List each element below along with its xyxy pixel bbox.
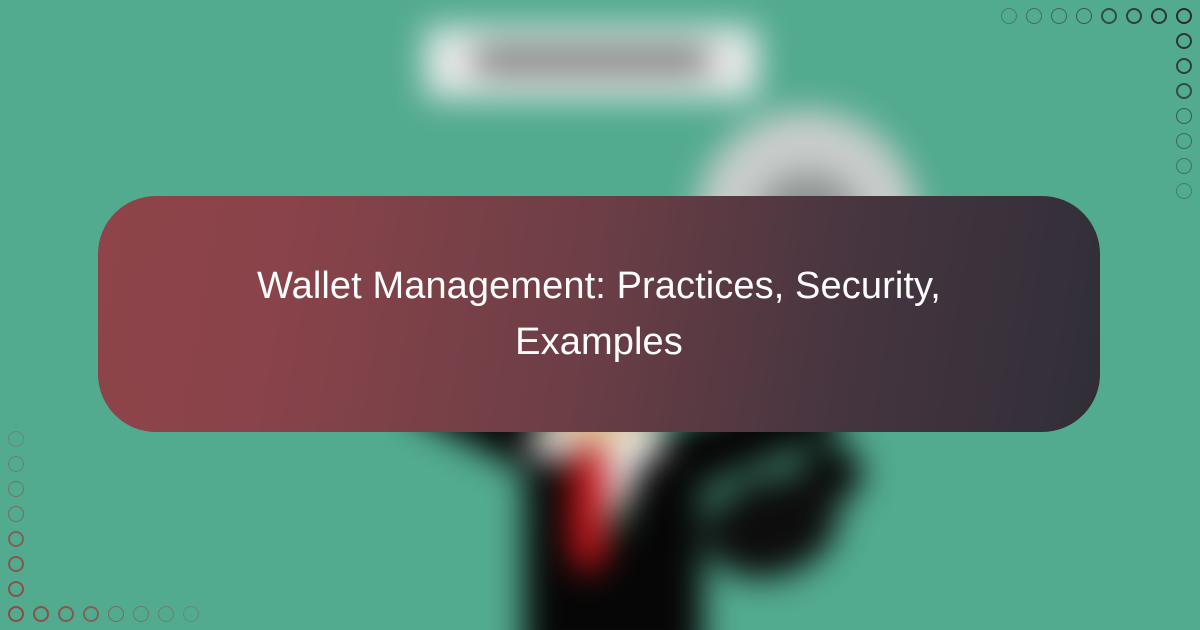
decorative-ring [1001, 8, 1017, 24]
decorative-ring [8, 456, 24, 472]
decorative-ring [1026, 8, 1042, 24]
backdrop-sign-text-blur [473, 48, 710, 73]
decorative-ring [183, 606, 199, 622]
decorative-ring [33, 606, 49, 622]
decorative-ring [1176, 158, 1192, 174]
page-title: Wallet Management: Practices, Security, … [249, 258, 949, 370]
decorative-ring [8, 556, 24, 572]
decorative-ring [1151, 8, 1167, 24]
decorative-ring [58, 606, 74, 622]
decorative-ring [1126, 8, 1142, 24]
decorative-ring [8, 581, 24, 597]
decorative-ring [108, 606, 124, 622]
decorative-ring [133, 606, 149, 622]
decorative-ring [8, 606, 24, 622]
decorative-ring [8, 531, 24, 547]
backdrop-person-tie [570, 457, 607, 571]
decorative-ring [8, 481, 24, 497]
decorative-ring [1101, 8, 1117, 24]
decorative-ring [8, 506, 24, 522]
decorative-ring [158, 606, 174, 622]
decorative-ring [1176, 183, 1192, 199]
decorative-ring [1051, 8, 1067, 24]
decorative-ring [1176, 83, 1192, 99]
decorative-ring [1176, 33, 1192, 49]
decorative-ring [1176, 8, 1192, 24]
decorative-ring [1176, 108, 1192, 124]
decorative-ring [1076, 8, 1092, 24]
decorative-ring [83, 606, 99, 622]
social-card-canvas: Wallet Management: Practices, Security, … [0, 0, 1200, 630]
title-card: Wallet Management: Practices, Security, … [98, 196, 1100, 432]
decorative-ring [1176, 133, 1192, 149]
decorative-ring [8, 431, 24, 447]
decorative-ring [1176, 58, 1192, 74]
